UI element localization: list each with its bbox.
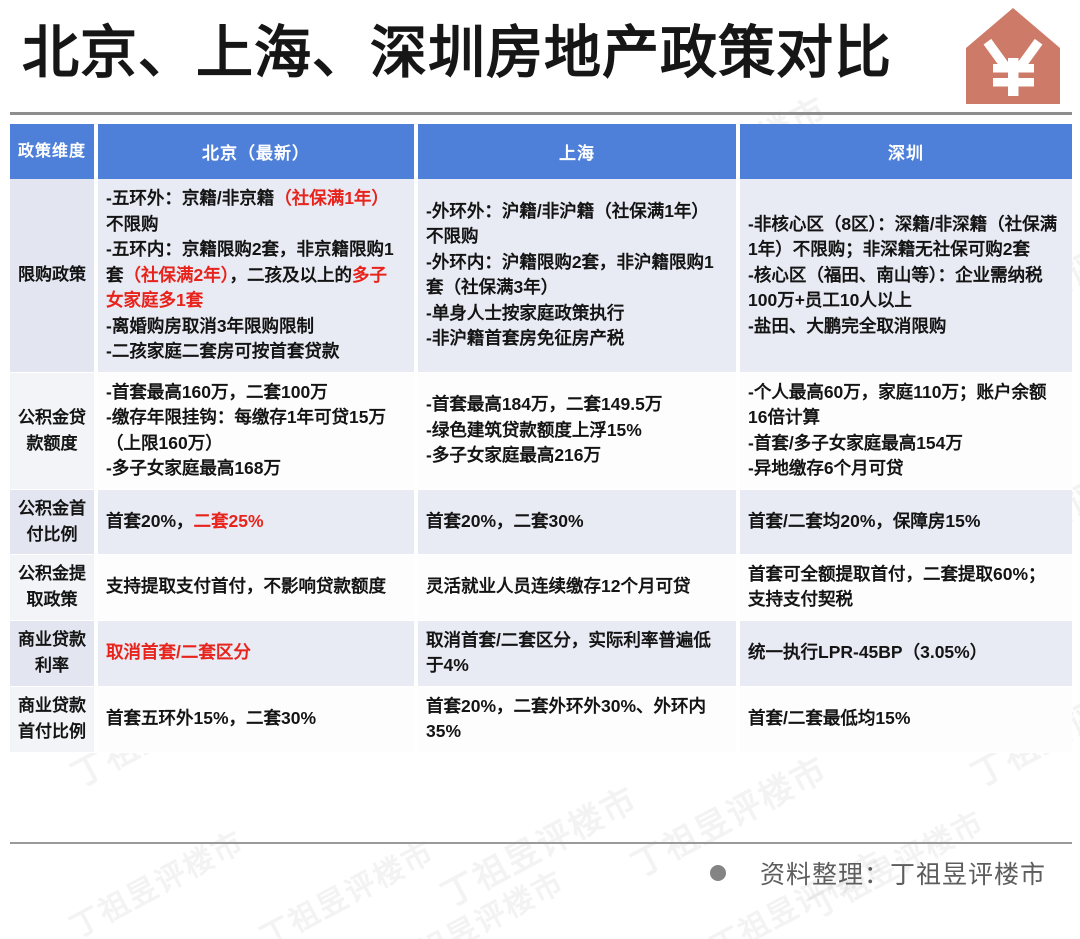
cell-line: -异地缴存6个月可贷 xyxy=(748,456,1062,482)
cell-line: -离婚购房取消3年限购限制 xyxy=(106,314,404,340)
cell-line: -外环外：沪籍/非沪籍（社保满1年）不限购 xyxy=(426,199,726,250)
cell-beijing: 支持提取支付首付，不影响贷款额度 xyxy=(98,555,418,621)
cell-line: -二孩家庭二套房可按首套贷款 xyxy=(106,339,404,365)
table-row: 公积金贷款额度-首套最高160万，二套100万-缴存年限挂钩：每缴存1年可贷15… xyxy=(10,373,1072,490)
cell-shanghai: -外环外：沪籍/非沪籍（社保满1年）不限购-外环内：沪籍限购2套，非沪籍限购1套… xyxy=(418,179,740,373)
cell-line: 支持提取支付首付，不影响贷款额度 xyxy=(106,574,404,600)
cell-shenzhen: 统一执行LPR-45BP（3.05%） xyxy=(740,621,1072,687)
cell-content: 灵活就业人员连续缴存12个月可贷 xyxy=(426,574,726,600)
cell-line: -五环内：京籍限购2套，非京籍限购1套（社保满2年），二孩及以上的多子女家庭多1… xyxy=(106,237,404,314)
cell-line: -首套最高160万，二套100万 xyxy=(106,380,404,406)
cell-content: -首套最高184万，二套149.5万-绿色建筑贷款额度上浮15%-多子女家庭最高… xyxy=(426,392,726,469)
table-header-row: 政策维度 北京（最新） 上海 深圳 xyxy=(10,124,1072,179)
cell-line: 首套20%，二套30% xyxy=(426,509,726,535)
cell-shenzhen: 首套/二套最低均15% xyxy=(740,687,1072,753)
watermark-text: 丁祖昱评楼市 xyxy=(431,772,645,917)
highlighted-text: （社保满1年） xyxy=(274,188,389,208)
cell-content: -五环外：京籍/非京籍（社保满1年）不限购-五环内：京籍限购2套，非京籍限购1套… xyxy=(106,186,404,365)
row-dimension-label: 商业贷款利率 xyxy=(10,621,98,687)
cell-line: 统一执行LPR-45BP（3.05%） xyxy=(748,640,1062,666)
cell-line: 首套可全额提取首付，二套提取60%；支持支付契税 xyxy=(748,562,1062,613)
cell-shanghai: 首套20%，二套30% xyxy=(418,490,740,555)
cell-beijing: -五环外：京籍/非京籍（社保满1年）不限购-五环内：京籍限购2套，非京籍限购1套… xyxy=(98,179,418,373)
table-row: 公积金首付比例首套20%，二套25%首套20%，二套30%首套/二套均20%，保… xyxy=(10,490,1072,555)
column-header-beijing: 北京（最新） xyxy=(98,124,418,179)
cell-line: -五环外：京籍/非京籍（社保满1年）不限购 xyxy=(106,186,404,237)
cell-content: 取消首套/二套区分 xyxy=(106,640,404,666)
cell-line: -缴存年限挂钩：每缴存1年可贷15万（上限160万） xyxy=(106,405,404,456)
cell-shanghai: -首套最高184万，二套149.5万-绿色建筑贷款额度上浮15%-多子女家庭最高… xyxy=(418,373,740,490)
cell-content: 首套20%，二套25% xyxy=(106,509,404,535)
cell-line: -多子女家庭最高168万 xyxy=(106,456,404,482)
table-row: 商业贷款首付比例首套五环外15%，二套30%首套20%，二套外环外30%、外环内… xyxy=(10,687,1072,753)
highlighted-text: （社保满2年） xyxy=(124,265,230,285)
cell-line: 首套五环外15%，二套30% xyxy=(106,706,404,732)
house-yen-icon xyxy=(964,6,1062,106)
cell-shenzhen: 首套可全额提取首付，二套提取60%；支持支付契税 xyxy=(740,555,1072,621)
column-header-shenzhen: 深圳 xyxy=(740,124,1072,179)
cell-line: 灵活就业人员连续缴存12个月可贷 xyxy=(426,574,726,600)
table-bottom-rule xyxy=(10,842,1072,844)
cell-beijing: -首套最高160万，二套100万-缴存年限挂钩：每缴存1年可贷15万（上限160… xyxy=(98,373,418,490)
cell-shanghai: 取消首套/二套区分，实际利率普遍低于4% xyxy=(418,621,740,687)
cell-content: -非核心区（8区）：深籍/非深籍（社保满1年）不限购；非深籍无社保可购2套-核心… xyxy=(748,212,1062,340)
cell-line: 首套20%，二套25% xyxy=(106,509,404,535)
cell-content: 首套20%，二套外环外30%、外环内35% xyxy=(426,694,726,745)
cell-line: -核心区（福田、南山等）：企业需纳税100万+员工10人以上 xyxy=(748,263,1062,314)
cell-content: 统一执行LPR-45BP（3.05%） xyxy=(748,640,1062,666)
highlighted-text: 二套25% xyxy=(194,511,264,531)
bullet-dot-icon xyxy=(710,865,726,881)
cell-line: -首套最高184万，二套149.5万 xyxy=(426,392,726,418)
cell-line: 首套/二套均20%，保障房15% xyxy=(748,509,1062,535)
cell-line: -绿色建筑贷款额度上浮15% xyxy=(426,418,726,444)
row-dimension-label: 公积金提取政策 xyxy=(10,555,98,621)
cell-shenzhen: 首套/二套均20%，保障房15% xyxy=(740,490,1072,555)
cell-line: -首套/多子女家庭最高154万 xyxy=(748,431,1062,457)
table-row: 公积金提取政策支持提取支付首付，不影响贷款额度灵活就业人员连续缴存12个月可贷首… xyxy=(10,555,1072,621)
cell-line: -个人最高60万，家庭110万；账户余额16倍计算 xyxy=(748,380,1062,431)
table-row: 商业贷款利率取消首套/二套区分取消首套/二套区分，实际利率普遍低于4%统一执行L… xyxy=(10,621,1072,687)
cell-line: -外环内：沪籍限购2套，非沪籍限购1套（社保满3年） xyxy=(426,250,726,301)
row-dimension-label: 公积金首付比例 xyxy=(10,490,98,555)
cell-content: 首套/二套均20%，保障房15% xyxy=(748,509,1062,535)
cell-line: -单身人士按家庭政策执行 xyxy=(426,301,726,327)
cell-line: 首套20%，二套外环外30%、外环内35% xyxy=(426,694,726,745)
column-header-shanghai: 上海 xyxy=(418,124,740,179)
page-title: 北京、上海、深圳房地产政策对比 xyxy=(22,12,892,94)
cell-shenzhen: -非核心区（8区）：深籍/非深籍（社保满1年）不限购；非深籍无社保可购2套-核心… xyxy=(740,179,1072,373)
cell-content: 取消首套/二套区分，实际利率普遍低于4% xyxy=(426,628,726,679)
row-dimension-label: 限购政策 xyxy=(10,179,98,373)
cell-content: -首套最高160万，二套100万-缴存年限挂钩：每缴存1年可贷15万（上限160… xyxy=(106,380,404,482)
cell-shenzhen: -个人最高60万，家庭110万；账户余额16倍计算-首套/多子女家庭最高154万… xyxy=(740,373,1072,490)
cell-content: 首套五环外15%，二套30% xyxy=(106,706,404,732)
cell-line: 取消首套/二套区分 xyxy=(106,640,404,666)
cell-content: 首套20%，二套30% xyxy=(426,509,726,535)
table-body: 限购政策-五环外：京籍/非京籍（社保满1年）不限购-五环内：京籍限购2套，非京籍… xyxy=(10,179,1072,753)
cell-line: -非核心区（8区）：深籍/非深籍（社保满1年）不限购；非深籍无社保可购2套 xyxy=(748,212,1062,263)
page-header: 北京、上海、深圳房地产政策对比 xyxy=(0,0,1080,113)
column-header-dimension: 政策维度 xyxy=(10,124,98,179)
cell-beijing: 取消首套/二套区分 xyxy=(98,621,418,687)
page-footer: 资料整理：丁祖昱评楼市 xyxy=(0,853,1080,893)
cell-beijing: 首套五环外15%，二套30% xyxy=(98,687,418,753)
cell-line: 首套/二套最低均15% xyxy=(748,706,1062,732)
cell-line: 取消首套/二套区分，实际利率普遍低于4% xyxy=(426,628,726,679)
cell-line: -盐田、大鹏完全取消限购 xyxy=(748,314,1062,340)
source-attribution: 资料整理：丁祖昱评楼市 xyxy=(760,855,1046,891)
row-dimension-label: 公积金贷款额度 xyxy=(10,373,98,490)
cell-line: -非沪籍首套房免征房产税 xyxy=(426,326,726,352)
cell-shanghai: 首套20%，二套外环外30%、外环内35% xyxy=(418,687,740,753)
cell-content: -外环外：沪籍/非沪籍（社保满1年）不限购-外环内：沪籍限购2套，非沪籍限购1套… xyxy=(426,199,726,352)
cell-content: 首套可全额提取首付，二套提取60%；支持支付契税 xyxy=(748,562,1062,613)
cell-content: 支持提取支付首付，不影响贷款额度 xyxy=(106,574,404,600)
cell-content: 首套/二套最低均15% xyxy=(748,706,1062,732)
cell-content: -个人最高60万，家庭110万；账户余额16倍计算-首套/多子女家庭最高154万… xyxy=(748,380,1062,482)
title-divider xyxy=(10,112,1072,115)
cell-shanghai: 灵活就业人员连续缴存12个月可贷 xyxy=(418,555,740,621)
table-row: 限购政策-五环外：京籍/非京籍（社保满1年）不限购-五环内：京籍限购2套，非京籍… xyxy=(10,179,1072,373)
cell-beijing: 首套20%，二套25% xyxy=(98,490,418,555)
row-dimension-label: 商业贷款首付比例 xyxy=(10,687,98,753)
policy-comparison-table: 政策维度 北京（最新） 上海 深圳 限购政策-五环外：京籍/非京籍（社保满1年）… xyxy=(10,124,1072,753)
highlighted-text: 取消首套/二套区分 xyxy=(106,642,251,662)
cell-line: -多子女家庭最高216万 xyxy=(426,443,726,469)
